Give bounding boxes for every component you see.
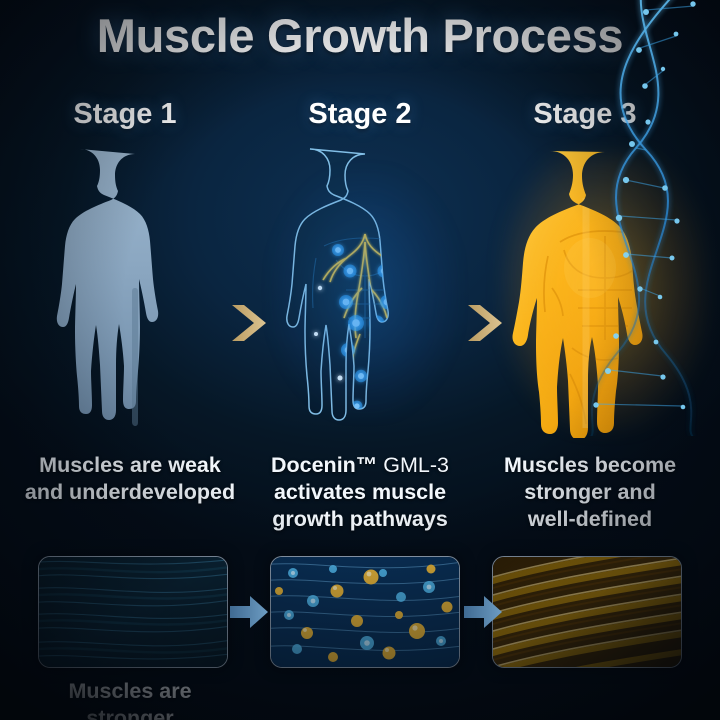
activated-body-silhouette	[250, 138, 480, 438]
dense-golden-fiber-texture	[492, 556, 682, 668]
product-brand-name: Docenin™	[271, 453, 377, 477]
activated-fiber-molecules-texture	[270, 556, 460, 668]
stage-2-to-3-arrow-icon	[464, 300, 508, 346]
stage-3-caption-line-2: stronger and	[470, 479, 710, 506]
stage-1-to-2-arrow-icon	[228, 300, 272, 346]
dna-helix-icon	[450, 0, 720, 436]
stage-3-caption: Muscles become stronger and well-defined	[470, 452, 710, 533]
thin-muscle-fiber-texture	[38, 556, 228, 668]
stage-2-label: Stage 2	[250, 98, 470, 131]
bottom-caption: Muscles are stronger	[10, 678, 250, 720]
stage-2-caption: Docenin™ GML-3 activates muscle growth p…	[240, 452, 480, 533]
thumbnail-2-to-3-arrow-icon	[462, 592, 504, 632]
stage-3-caption-line-3: well-defined	[470, 506, 710, 533]
stage-1-caption: Muscles are weak and underdeveloped	[10, 452, 250, 506]
weak-body-silhouette	[20, 138, 250, 438]
stage-3-caption-line-1: Muscles become	[470, 452, 710, 479]
stage-2-glow	[270, 168, 460, 418]
thumbnail-1-to-2-arrow-icon	[228, 592, 270, 632]
stage-1-caption-line-2: and underdeveloped	[10, 479, 250, 506]
stage-1-caption-line-1: Muscles are weak	[10, 452, 250, 479]
bottom-caption-line-1: Muscles are	[10, 678, 250, 705]
stage-1-label: Stage 1	[15, 98, 235, 131]
bottom-caption-line-2: stronger	[10, 705, 250, 720]
stage-2-caption-line-3: growth pathways	[240, 506, 480, 533]
stage-2-caption-line-1: Docenin™ GML-3	[240, 452, 480, 479]
stage-2-caption-line-2: activates muscle	[240, 479, 480, 506]
product-code: GML-3	[383, 453, 449, 477]
infographic-poster: Muscle Growth Process Stage 1 Stage 2 St…	[0, 0, 720, 720]
